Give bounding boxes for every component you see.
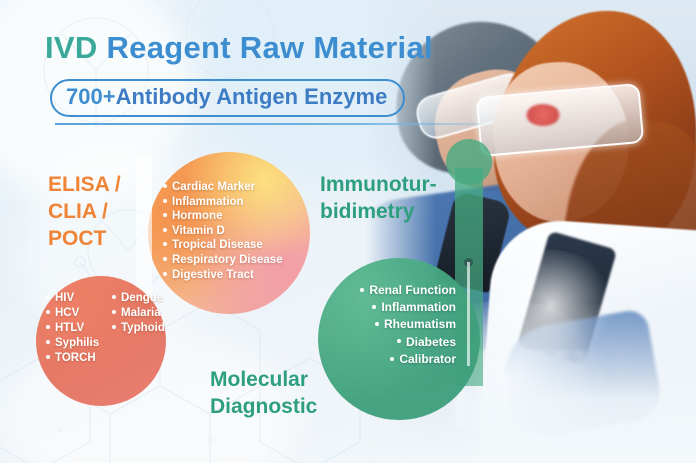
list-item-label: Inflammation [381, 300, 456, 314]
list-item: Calibrator [330, 351, 456, 368]
section-heading-immunoturbidimetry: Immunotur-bidimetry [320, 172, 437, 226]
photo-goggle-reflection [526, 104, 560, 126]
infectious-disease-list-column-2: Dengue Malaria Typhoid [112, 291, 165, 336]
list-item: TORCH [46, 351, 99, 366]
list-item-label: TORCH [55, 352, 96, 364]
list-item: Typhoid [112, 321, 165, 336]
list-item-label: Cardiac Marker [172, 181, 255, 193]
list-item-label: Tropical Disease [172, 239, 263, 251]
ivd-promo-banner: IVD Reagent Raw Material 700+Antibody An… [0, 0, 696, 463]
list-item-label: HIV [55, 292, 74, 304]
pill-count: 700+ [66, 84, 116, 109]
bullet-dot-icon [163, 257, 167, 261]
immunoturbidimetry-list: Renal Function Inflammation Rheumatism D… [330, 282, 456, 368]
list-item-label: Syphilis [55, 337, 99, 349]
green-strip-line [467, 262, 470, 366]
list-item: Digestive Tract [163, 268, 283, 283]
list-item-label: Inflammation [172, 196, 244, 208]
list-item: Dengue [112, 291, 165, 306]
bullet-dot-icon [375, 322, 379, 326]
list-item-label: Rheumatism [384, 317, 456, 331]
list-item: Renal Function [330, 282, 456, 299]
list-item-label: Vitamin D [172, 225, 225, 237]
list-item-label: Diabetes [406, 335, 456, 349]
bullet-dot-icon [372, 305, 376, 309]
list-item-label: HCV [55, 307, 79, 319]
header-divider [55, 123, 480, 125]
list-item: Syphilis [46, 336, 99, 351]
list-item-label: Typhoid [121, 322, 165, 334]
list-item-label: Dengue [121, 292, 163, 304]
list-item-label: HTLV [55, 322, 84, 334]
section-heading-molecular-diagnostic: MolecularDiagnostic [210, 367, 317, 421]
subtitle-pill: 700+Antibody Antigen Enzyme [50, 79, 405, 117]
list-item-label: Digestive Tract [172, 269, 254, 281]
list-item-label: Malaria [121, 307, 161, 319]
section-heading-elisa: ELISA /CLIA /POCT [48, 172, 121, 253]
list-item-label: Hormone [172, 210, 222, 222]
list-item: Respiratory Disease [163, 253, 283, 268]
list-item: HTLV [46, 321, 99, 336]
bullet-dot-icon [397, 339, 401, 343]
list-item: Cardiac Marker [163, 180, 283, 195]
bullet-dot-icon [46, 295, 50, 299]
list-item: Rheumatism [330, 316, 456, 333]
bullet-dot-icon [46, 340, 50, 344]
bullet-dot-icon [163, 213, 167, 217]
orange-assay-list: Cardiac Marker Inflammation Hormone Vita… [163, 180, 283, 282]
list-item-label: Renal Function [369, 283, 456, 297]
list-item: Inflammation [330, 299, 456, 316]
bullet-dot-icon [112, 325, 116, 329]
list-item: Inflammation [163, 195, 283, 210]
list-item: Malaria [112, 306, 165, 321]
bullet-dot-icon [163, 199, 167, 203]
bullet-dot-icon [112, 310, 116, 314]
bullet-dot-icon [163, 184, 167, 188]
list-item: Hormone [163, 209, 283, 224]
bullet-dot-icon [163, 228, 167, 232]
bullet-dot-icon [163, 242, 167, 246]
list-item-label: Calibrator [399, 352, 456, 366]
list-item: Diabetes [330, 334, 456, 351]
bullet-dot-icon [360, 288, 364, 292]
list-item-label: Respiratory Disease [172, 254, 283, 266]
page-title: IVD Reagent Raw Material [45, 30, 433, 66]
list-item: Vitamin D [163, 224, 283, 239]
list-item: Tropical Disease [163, 238, 283, 253]
infectious-disease-list-column-1: HIV HCV HTLV Syphilis TORCH [46, 291, 99, 366]
bullet-dot-icon [46, 325, 50, 329]
bullet-dot-icon [112, 295, 116, 299]
bullet-dot-icon [390, 357, 394, 361]
title-rest: Reagent Raw Material [98, 30, 433, 65]
title-accent-word: IVD [45, 30, 98, 65]
bullet-dot-icon [163, 272, 167, 276]
pill-label: Antibody Antigen Enzyme [116, 84, 388, 109]
bullet-dot-icon [46, 310, 50, 314]
list-item: HIV [46, 291, 99, 306]
list-item: HCV [46, 306, 99, 321]
bullet-dot-icon [46, 355, 50, 359]
